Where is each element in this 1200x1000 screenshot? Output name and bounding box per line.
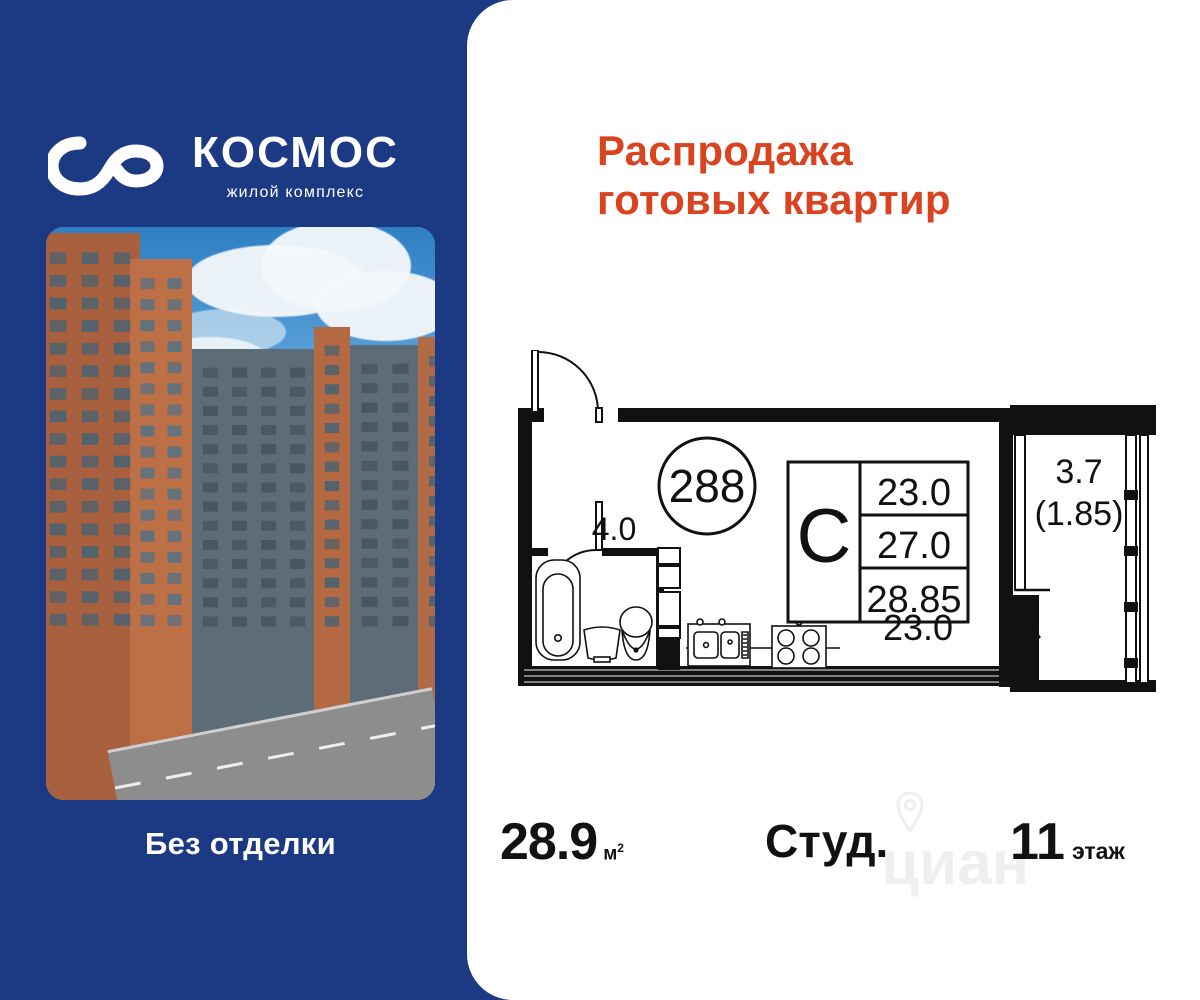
entry-door-leaf	[532, 350, 538, 412]
brand-subtitle: жилой комплекс	[192, 184, 399, 202]
stamp-letter: С	[797, 494, 852, 579]
wall-bath-top-left	[532, 548, 548, 556]
brand-block: КОСМОС жилой комплекс	[48, 118, 448, 214]
floor-summary: 11 этаж	[1010, 812, 1125, 872]
area-summary: 28.9 м2	[500, 812, 624, 872]
brand-name: КОСМОС	[192, 131, 399, 175]
wall-top	[618, 408, 1013, 422]
area-unit: м2	[603, 841, 624, 865]
summary-row: 28.9 м2 Студ. 11 этаж	[500, 812, 1200, 892]
stamp-value-1: 23.0	[877, 472, 951, 514]
balcony-slab-top	[1010, 405, 1156, 435]
left-blue-panel: КОСМОС жилой комплекс	[0, 0, 470, 1000]
sink-icon	[584, 627, 620, 662]
apartment-number-text: 288	[669, 460, 746, 512]
balcony-area-reduced-label: (1.85)	[1035, 495, 1124, 533]
kitchen-sink-icon	[688, 619, 750, 666]
entry-door-jamb	[596, 408, 602, 422]
building-photo	[46, 227, 435, 800]
photo-caption: Без отделки	[46, 826, 435, 862]
page-title: Распродажа готовых квартир	[597, 126, 1137, 224]
apartment-type: Студ.	[765, 814, 888, 868]
headline-line-1: Распродажа	[597, 127, 853, 174]
closet-base	[658, 638, 680, 670]
wall-bath-top	[602, 548, 662, 556]
stove-icon	[772, 619, 826, 668]
living-area-label: 23.0	[883, 607, 953, 648]
headline-line-2: готовых квартир	[597, 175, 1137, 224]
balcony-glazing-left	[1015, 435, 1025, 590]
floor-plan-drawing: 288	[510, 350, 1170, 700]
bathtub-icon	[536, 560, 580, 660]
area-value: 28.9	[500, 812, 597, 872]
listing-card: КОСМОС жилой комплекс	[0, 0, 1200, 1000]
floor-plan: 288	[510, 350, 1170, 700]
closet-unit	[658, 548, 680, 638]
toilet-icon	[620, 607, 652, 660]
infinity-icon	[48, 135, 170, 197]
balcony-area-label: 3.7	[1055, 453, 1102, 491]
wall-left	[518, 408, 532, 686]
bathroom-area-label: 4.0	[592, 511, 636, 547]
floor-unit: этаж	[1072, 838, 1125, 865]
floor-value: 11	[1010, 812, 1065, 872]
stamp-value-2: 27.0	[877, 525, 951, 567]
entry-door-swing	[538, 352, 598, 412]
balcony-glazing-right	[1126, 435, 1148, 683]
